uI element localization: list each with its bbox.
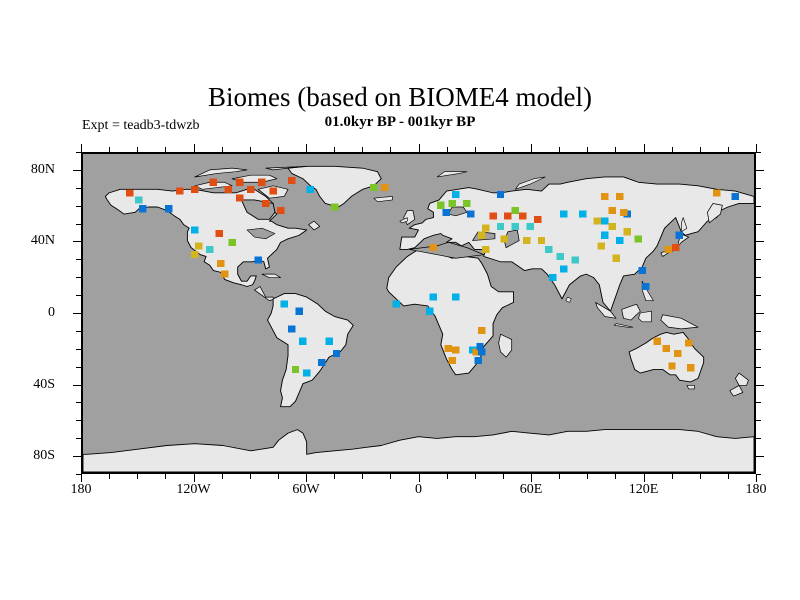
x-tick-top — [728, 147, 729, 152]
y-tick-right — [756, 295, 761, 296]
x-tick-bottom — [700, 474, 701, 479]
biome-marker — [126, 189, 133, 196]
biome-marker — [668, 362, 675, 369]
y-tick-left — [76, 188, 81, 189]
y-axis-label: 40N — [0, 233, 55, 249]
biome-marker — [176, 188, 183, 195]
y-tick-left — [76, 349, 81, 350]
biome-marker — [303, 370, 310, 377]
biome-marker — [560, 265, 567, 272]
y-tick-right — [756, 385, 764, 386]
biome-marker — [277, 207, 284, 214]
biome-marker — [478, 327, 485, 334]
y-tick-right — [756, 170, 764, 171]
x-tick-top — [644, 144, 645, 152]
x-tick-top — [194, 144, 195, 152]
y-tick-right — [756, 402, 761, 403]
y-tick-left — [76, 206, 81, 207]
biome-marker — [307, 186, 314, 193]
biome-marker — [292, 366, 299, 373]
x-axis-label: 180 — [71, 482, 92, 498]
x-tick-top — [306, 144, 307, 152]
biome-marker — [295, 308, 302, 315]
biome-marker — [512, 207, 519, 214]
biome-marker — [476, 343, 483, 350]
x-axis-label: 60E — [520, 482, 543, 498]
biome-marker — [262, 200, 269, 207]
biome-marker — [685, 340, 692, 347]
biome-marker — [191, 186, 198, 193]
map-plot-area — [81, 152, 756, 474]
x-tick-top — [475, 147, 476, 152]
y-tick-left — [73, 170, 81, 171]
y-axis-label: 80S — [0, 448, 55, 464]
biome-marker — [452, 294, 459, 301]
biome-marker — [318, 359, 325, 366]
biome-marker — [612, 255, 619, 262]
biome-marker — [452, 347, 459, 354]
x-tick-bottom — [278, 474, 279, 479]
x-tick-top — [756, 144, 757, 152]
biome-marker — [501, 235, 508, 242]
biome-marker — [609, 207, 616, 214]
x-tick-bottom — [728, 474, 729, 479]
biome-marker — [225, 186, 232, 193]
biome-marker — [236, 195, 243, 202]
experiment-label: Expt = teadb3-tdwzb — [82, 118, 200, 134]
biome-marker — [478, 232, 485, 239]
biome-marker — [624, 228, 631, 235]
biome-marker — [635, 235, 642, 242]
y-axis-label: 80N — [0, 162, 55, 178]
x-tick-top — [109, 147, 110, 152]
y-tick-left — [73, 241, 81, 242]
y-axis-label: 40S — [0, 377, 55, 393]
biome-marker — [474, 357, 481, 364]
biome-marker — [448, 357, 455, 364]
biome-marker — [482, 225, 489, 232]
y-tick-right — [756, 206, 761, 207]
y-tick-left — [76, 420, 81, 421]
x-tick-top — [278, 147, 279, 152]
y-tick-left — [76, 277, 81, 278]
biome-marker — [523, 237, 530, 244]
x-tick-top — [222, 147, 223, 152]
y-tick-right — [756, 241, 764, 242]
x-tick-top — [700, 147, 701, 152]
biome-marker — [497, 223, 504, 230]
biome-marker — [430, 294, 437, 301]
biome-marker — [497, 191, 504, 198]
biome-marker — [247, 186, 254, 193]
y-tick-right — [756, 331, 761, 332]
x-tick-bottom — [672, 474, 673, 479]
world-map-svg — [83, 154, 754, 472]
biome-marker — [538, 237, 545, 244]
biome-marker — [616, 193, 623, 200]
x-tick-top — [165, 147, 166, 152]
biome-marker — [191, 251, 198, 258]
x-tick-bottom — [165, 474, 166, 479]
biome-marker — [527, 223, 534, 230]
x-tick-bottom — [194, 474, 195, 482]
biome-marker — [732, 193, 739, 200]
x-tick-top — [615, 147, 616, 152]
y-tick-left — [73, 456, 81, 457]
biome-marker — [642, 283, 649, 290]
x-tick-top — [390, 147, 391, 152]
y-tick-right — [756, 313, 764, 314]
biome-marker — [601, 193, 608, 200]
biome-marker — [299, 338, 306, 345]
x-tick-bottom — [137, 474, 138, 479]
biome-marker — [236, 179, 243, 186]
x-tick-bottom — [109, 474, 110, 479]
biome-marker — [482, 246, 489, 253]
y-tick-right — [756, 367, 761, 368]
page-title: Biomes (based on BIOME4 model) — [0, 82, 800, 112]
x-tick-top — [419, 144, 420, 152]
y-tick-right — [756, 438, 761, 439]
x-tick-bottom — [419, 474, 420, 482]
biome-marker — [579, 211, 586, 218]
biome-marker — [269, 188, 276, 195]
biome-marker — [672, 244, 679, 251]
biome-marker — [288, 325, 295, 332]
y-tick-left — [76, 152, 81, 153]
x-tick-bottom — [334, 474, 335, 479]
y-tick-left — [76, 224, 81, 225]
biome-marker — [597, 242, 604, 249]
biome-marker — [560, 211, 567, 218]
biome-marker — [206, 246, 213, 253]
x-tick-bottom — [447, 474, 448, 479]
y-tick-left — [76, 438, 81, 439]
biome-marker — [333, 350, 340, 357]
x-tick-top — [531, 144, 532, 152]
x-tick-top — [672, 147, 673, 152]
biome-marker — [674, 350, 681, 357]
x-tick-bottom — [503, 474, 504, 479]
biome-marker — [601, 218, 608, 225]
y-tick-right — [756, 420, 761, 421]
biome-marker — [571, 256, 578, 263]
x-tick-bottom — [644, 474, 645, 482]
y-tick-left — [76, 367, 81, 368]
biome-marker — [430, 244, 437, 251]
biome-marker — [210, 179, 217, 186]
x-axis-label: 180 — [746, 482, 767, 498]
y-tick-right — [756, 188, 761, 189]
y-tick-left — [76, 402, 81, 403]
x-tick-top — [137, 147, 138, 152]
biome-marker — [258, 179, 265, 186]
y-tick-left — [76, 474, 81, 475]
y-tick-right — [756, 259, 761, 260]
y-tick-left — [73, 385, 81, 386]
x-axis-label: 120E — [629, 482, 659, 498]
x-tick-bottom — [756, 474, 757, 482]
biome-marker — [556, 253, 563, 260]
landmass — [638, 311, 651, 322]
y-tick-left — [76, 259, 81, 260]
biome-marker — [392, 301, 399, 308]
x-tick-bottom — [81, 474, 82, 482]
biome-marker — [165, 205, 172, 212]
x-tick-bottom — [475, 474, 476, 479]
biome-marker — [288, 177, 295, 184]
x-tick-bottom — [222, 474, 223, 479]
biome-marker — [713, 189, 720, 196]
biome-marker — [331, 203, 338, 210]
x-tick-top — [447, 147, 448, 152]
y-tick-right — [756, 474, 761, 475]
biome-marker — [549, 274, 556, 281]
biome-marker — [135, 196, 142, 203]
y-tick-right — [756, 152, 761, 153]
x-tick-top — [559, 147, 560, 152]
biome-marker — [620, 209, 627, 216]
biome-marker — [448, 200, 455, 207]
x-tick-bottom — [306, 474, 307, 482]
biome-marker — [545, 246, 552, 253]
biome-marker — [463, 200, 470, 207]
y-tick-right — [756, 349, 761, 350]
biome-marker — [195, 242, 202, 249]
biome-marker — [445, 345, 452, 352]
x-axis-label: 0 — [415, 482, 422, 498]
x-tick-bottom — [587, 474, 588, 479]
y-tick-left — [76, 295, 81, 296]
x-tick-top — [81, 144, 82, 152]
biome-marker — [217, 260, 224, 267]
biome-marker — [437, 202, 444, 209]
biome-marker — [519, 212, 526, 219]
biome-marker — [609, 223, 616, 230]
x-axis-label: 120W — [176, 482, 210, 498]
biome-marker — [281, 301, 288, 308]
x-axis-label: 60W — [292, 482, 319, 498]
biome-marker — [139, 205, 146, 212]
biome-marker — [215, 230, 222, 237]
biome-marker — [534, 216, 541, 223]
biome-marker — [381, 184, 388, 191]
biome-marker — [325, 338, 332, 345]
biome-marker — [504, 212, 511, 219]
biome-marker — [512, 223, 519, 230]
x-tick-bottom — [362, 474, 363, 479]
biome-marker — [426, 308, 433, 315]
biome-marker — [221, 271, 228, 278]
biome-marker — [676, 232, 683, 239]
biome-marker — [254, 256, 261, 263]
biome-marker — [370, 184, 377, 191]
x-tick-bottom — [559, 474, 560, 479]
biome-marker — [653, 338, 660, 345]
biome-marker — [663, 345, 670, 352]
x-tick-top — [503, 147, 504, 152]
biome-marker — [443, 209, 450, 216]
biome-marker — [601, 232, 608, 239]
biome-marker — [191, 226, 198, 233]
biome-marker — [665, 246, 672, 253]
y-tick-right — [756, 277, 761, 278]
y-tick-left — [73, 313, 81, 314]
x-tick-bottom — [615, 474, 616, 479]
biome-marker — [228, 239, 235, 246]
biome-marker — [594, 218, 601, 225]
biome-marker — [687, 364, 694, 371]
x-tick-bottom — [390, 474, 391, 479]
biome-marker — [638, 267, 645, 274]
x-tick-top — [587, 147, 588, 152]
y-axis-label: 0 — [0, 305, 55, 321]
y-tick-left — [76, 331, 81, 332]
biome-marker — [489, 212, 496, 219]
x-tick-bottom — [531, 474, 532, 482]
biome-marker — [467, 211, 474, 218]
x-tick-top — [362, 147, 363, 152]
y-tick-right — [756, 224, 761, 225]
biome-marker — [616, 237, 623, 244]
figure-canvas: Biomes (based on BIOME4 model) 01.0kyr B… — [0, 0, 800, 600]
biome-marker — [452, 191, 459, 198]
x-tick-bottom — [250, 474, 251, 479]
x-tick-top — [250, 147, 251, 152]
x-tick-top — [334, 147, 335, 152]
y-tick-right — [756, 456, 764, 457]
